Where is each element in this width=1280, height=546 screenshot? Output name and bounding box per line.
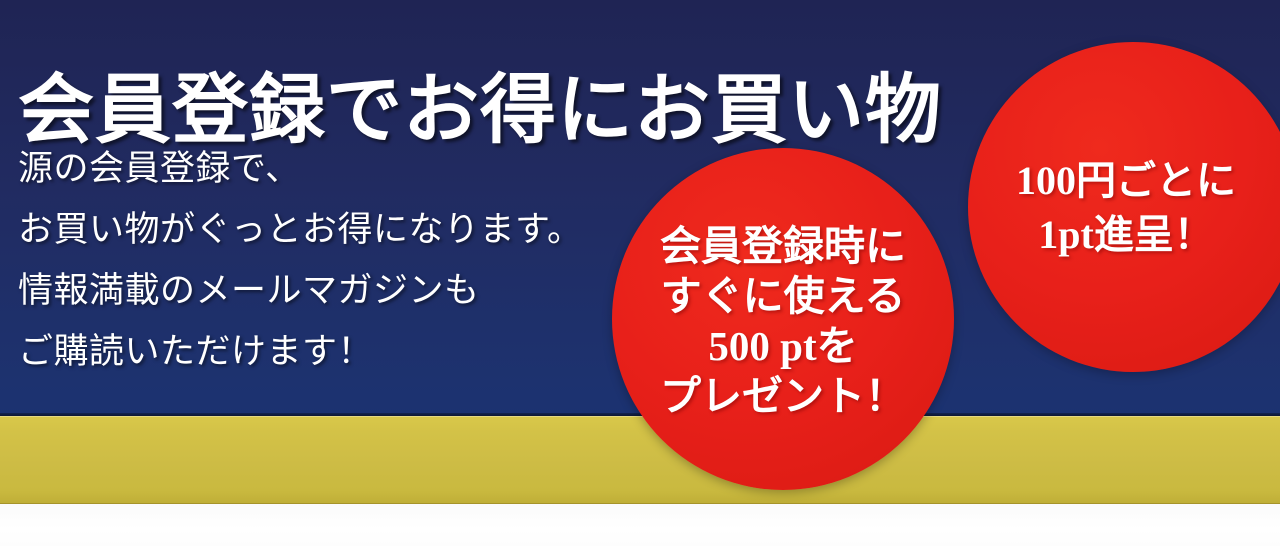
badge-point-rate-line-2: 1pt進呈！ (968, 208, 1280, 262)
body-line-2: お買い物がぐっとお得になります。 (18, 199, 658, 260)
white-base-strip (0, 504, 1280, 546)
badge-signup-bonus-text: 会員登録時に すぐに使える 500 ptを プレゼント！ (612, 221, 954, 421)
badge-signup-bonus-line-3: 500 ptを (612, 321, 954, 371)
badge-signup-bonus: 会員登録時に すぐに使える 500 ptを プレゼント！ (612, 148, 954, 490)
badge-point-rate-line-1: 100円ごとに (968, 154, 1280, 208)
badge-signup-bonus-line-2: すぐに使える (612, 271, 954, 321)
badge-signup-bonus-line-4: プレゼント！ (612, 371, 954, 421)
gold-band (0, 416, 1280, 504)
body-line-4: ご購読いただけます！ (18, 321, 658, 382)
body-line-3: 情報満載のメールマガジンも (18, 260, 658, 321)
badge-point-rate-text: 100円ごとに 1pt進呈！ (968, 154, 1280, 262)
promo-banner: 会員登録でお得にお買い物 源の会員登録で、 お買い物がぐっとお得になります。 情… (0, 0, 1280, 546)
body-line-1: 源の会員登録で、 (18, 138, 658, 199)
body-copy: 源の会員登録で、 お買い物がぐっとお得になります。 情報満載のメールマガジンも … (18, 138, 658, 382)
badge-signup-bonus-line-1: 会員登録時に (612, 221, 954, 271)
